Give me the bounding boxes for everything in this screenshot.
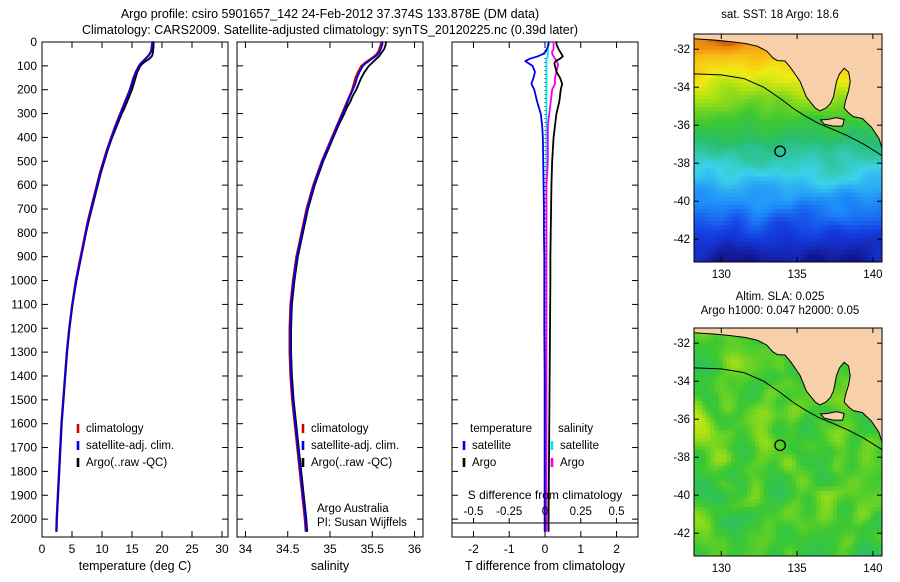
svg-text:300: 300 — [17, 107, 37, 121]
sla-title-line-2: Argo h1000: 0.047 h2000: 0.05 — [660, 304, 900, 318]
svg-text:PI: Susan Wijffels: PI: Susan Wijffels — [317, 517, 407, 529]
temperature-profile-panel: 0100200300400500600700800900100011001200… — [0, 30, 240, 580]
svg-text:temperature (deg C): temperature (deg C) — [79, 559, 192, 573]
svg-text:0: 0 — [39, 542, 46, 556]
svg-text:400: 400 — [17, 130, 37, 144]
svg-text:800: 800 — [17, 226, 37, 240]
salinity-profile-panel: 3434.53535.536salinityclimatologysatelli… — [215, 30, 450, 580]
svg-text:900: 900 — [17, 250, 37, 264]
svg-text:1700: 1700 — [10, 441, 37, 455]
svg-text:-42: -42 — [673, 234, 690, 246]
sla-map: 130135140-32-34-36-38-40-42 — [660, 320, 892, 582]
title-line-1: Argo profile: csiro 5901657_142 24-Feb-2… — [0, 6, 660, 22]
svg-text:1800: 1800 — [10, 464, 37, 478]
svg-text:S difference from climatology: S difference from climatology — [468, 488, 623, 502]
sla-map-title: Altim. SLA: 0.025 Argo h1000: 0.047 h200… — [660, 290, 900, 318]
sst-map: 130135140-32-34-36-38-40-42 — [660, 26, 892, 288]
svg-text:1: 1 — [577, 542, 584, 556]
svg-text:36: 36 — [408, 542, 422, 556]
svg-text:Argo(..raw -QC): Argo(..raw -QC) — [311, 457, 392, 469]
svg-text:-2: -2 — [468, 542, 479, 556]
svg-text:2000: 2000 — [10, 512, 37, 526]
svg-text:1300: 1300 — [10, 345, 37, 359]
sla-title-line-1: Altim. SLA: 0.025 — [660, 290, 900, 304]
svg-text:200: 200 — [17, 83, 37, 97]
svg-text:satellite: satellite — [560, 440, 599, 452]
sst-map-title: sat. SST: 18 Argo: 18.6 — [660, 8, 900, 22]
svg-text:15: 15 — [125, 542, 139, 556]
svg-text:700: 700 — [17, 202, 37, 216]
svg-text:salinity: salinity — [311, 559, 350, 573]
svg-text:2: 2 — [613, 542, 620, 556]
difference-profile-panel: -2-1012T difference from climatology-0.5… — [430, 30, 660, 580]
svg-text:satellite: satellite — [472, 440, 511, 452]
svg-text:-36: -36 — [673, 120, 690, 132]
svg-text:-0.5: -0.5 — [464, 506, 484, 518]
svg-text:Argo: Argo — [472, 457, 496, 469]
svg-text:-32: -32 — [673, 44, 690, 56]
svg-text:35.5: 35.5 — [361, 542, 385, 556]
svg-text:500: 500 — [17, 154, 37, 168]
svg-text:1600: 1600 — [10, 417, 37, 431]
svg-text:satellite-adj. clim.: satellite-adj. clim. — [311, 440, 399, 452]
svg-text:salinity: salinity — [558, 423, 593, 435]
svg-text:-40: -40 — [673, 196, 690, 208]
svg-text:temperature: temperature — [470, 423, 532, 435]
svg-text:34: 34 — [239, 542, 253, 556]
svg-text:10: 10 — [95, 542, 109, 556]
svg-text:-38: -38 — [673, 158, 690, 170]
svg-text:1900: 1900 — [10, 488, 37, 502]
svg-text:0: 0 — [30, 35, 37, 49]
svg-text:1100: 1100 — [11, 297, 37, 311]
svg-text:T difference from climatology: T difference from climatology — [465, 559, 626, 573]
svg-text:25: 25 — [185, 542, 199, 556]
svg-text:0: 0 — [542, 506, 548, 518]
svg-text:100: 100 — [17, 59, 37, 73]
svg-text:Argo Australia: Argo Australia — [317, 503, 389, 515]
svg-text:1400: 1400 — [10, 369, 37, 383]
svg-text:Argo(..raw -QC): Argo(..raw -QC) — [86, 457, 167, 469]
svg-text:600: 600 — [17, 178, 37, 192]
svg-text:140: 140 — [863, 269, 882, 281]
svg-text:20: 20 — [155, 542, 169, 556]
svg-text:35: 35 — [323, 542, 337, 556]
svg-text:0.5: 0.5 — [609, 506, 625, 518]
svg-text:135: 135 — [788, 269, 807, 281]
svg-text:climatology: climatology — [86, 423, 144, 435]
svg-text:-1: -1 — [504, 542, 515, 556]
svg-text:satellite-adj. clim.: satellite-adj. clim. — [86, 440, 174, 452]
svg-text:0.25: 0.25 — [570, 506, 592, 518]
svg-text:climatology: climatology — [311, 423, 369, 435]
svg-text:-34: -34 — [673, 82, 690, 94]
svg-text:5: 5 — [69, 542, 76, 556]
svg-text:1500: 1500 — [10, 393, 37, 407]
svg-text:Argo: Argo — [560, 457, 584, 469]
svg-text:-0.25: -0.25 — [496, 506, 522, 518]
svg-text:34.5: 34.5 — [276, 542, 300, 556]
svg-text:1000: 1000 — [10, 274, 37, 288]
svg-text:1200: 1200 — [10, 321, 37, 335]
svg-text:0: 0 — [542, 542, 549, 556]
svg-text:130: 130 — [712, 269, 731, 281]
